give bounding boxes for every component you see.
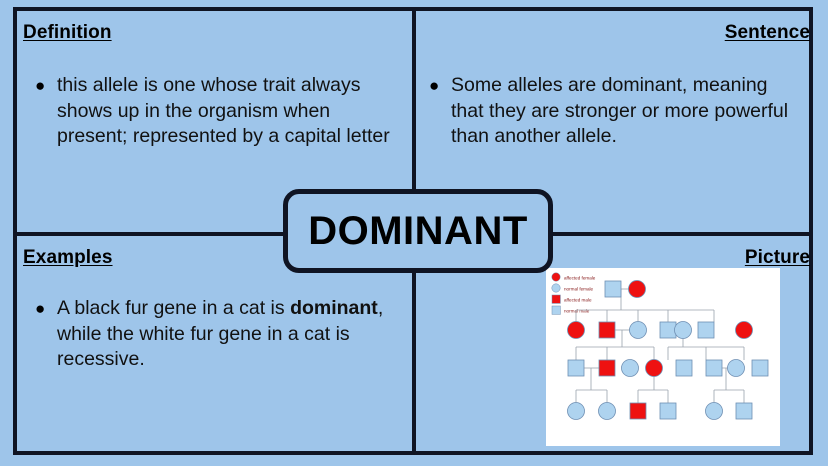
bullet-dot-icon: ●: [35, 73, 57, 99]
legend-label-affected-male: affected male: [564, 298, 592, 303]
examples-heading: Examples: [23, 247, 113, 269]
pedigree-chart-svg: affected female normal female affected m…: [546, 268, 780, 446]
center-term-label: DOMINANT: [308, 211, 528, 251]
examples-bullet-text: A black fur gene in a cat is dominant, w…: [57, 296, 405, 373]
definition-bullet-text: this allele is one whose trait always sh…: [57, 73, 405, 150]
definition-heading: Definition: [23, 22, 112, 44]
bullet-dot-icon: ●: [429, 73, 451, 99]
examples-text-part1: A black fur gene in a cat is: [57, 297, 290, 319]
examples-text-emphasis: dominant: [290, 297, 378, 319]
sentence-heading: Sentence: [725, 22, 810, 44]
examples-bullet: ● A black fur gene in a cat is dominant,…: [35, 296, 405, 373]
sentence-bullet-text: Some alleles are dominant, meaning that …: [451, 73, 799, 150]
legend-label-affected-female: affected female: [564, 276, 596, 281]
slide-canvas: Definition ● this allele is one whose tr…: [0, 0, 828, 466]
sentence-bullet: ● Some alleles are dominant, meaning tha…: [429, 73, 799, 150]
center-term-box: DOMINANT: [283, 189, 553, 273]
legend-label-normal-male: normal male: [564, 309, 590, 314]
pedigree-chart-image: affected female normal female affected m…: [546, 268, 780, 446]
picture-heading: Picture: [745, 247, 810, 269]
legend-label-normal-female: normal female: [564, 287, 594, 292]
bullet-dot-icon: ●: [35, 296, 57, 322]
definition-bullet: ● this allele is one whose trait always …: [35, 73, 405, 150]
